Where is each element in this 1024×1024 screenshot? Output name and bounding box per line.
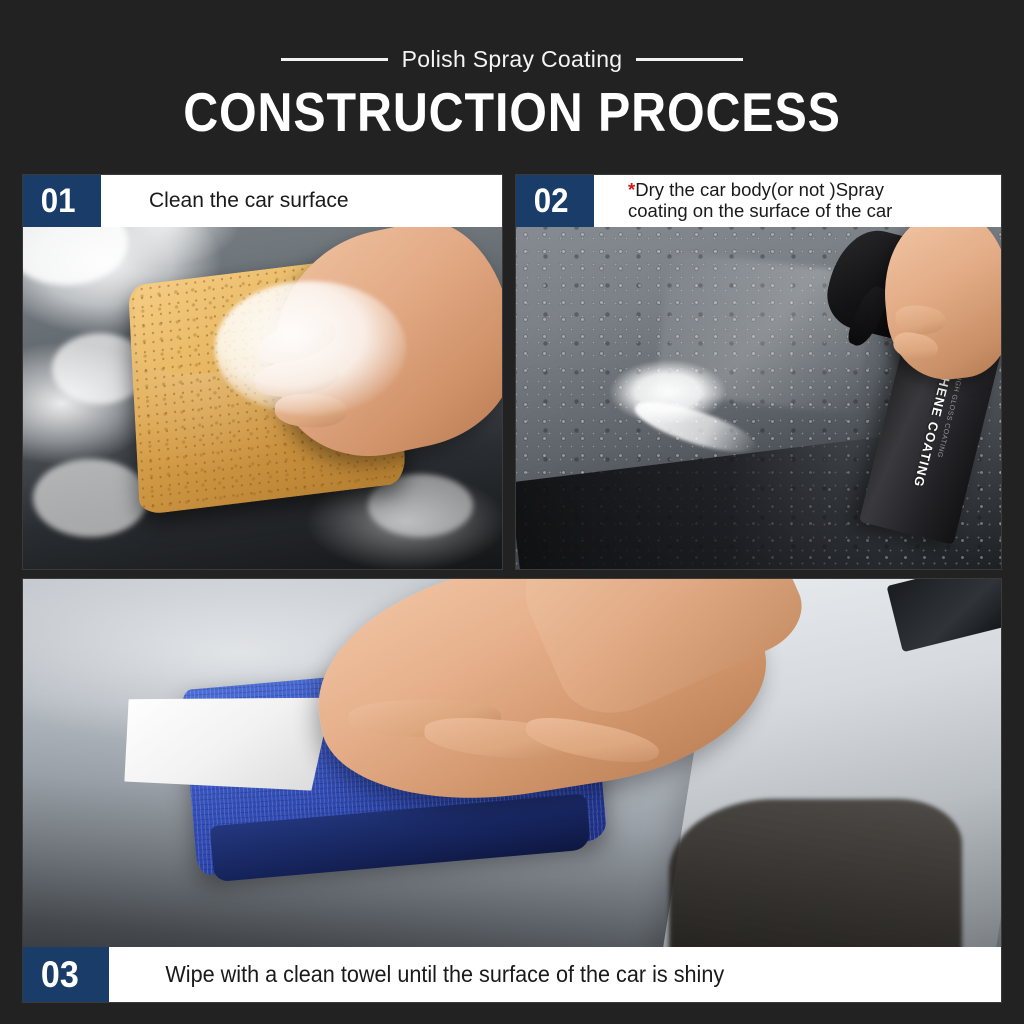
rule-right-decoration [636, 58, 743, 61]
step-badge-1: 01 [23, 175, 101, 227]
step-banner-3: 03 Wipe with a clean towel until the sur… [23, 947, 1001, 1002]
header: Polish Spray Coating CONSTRUCTION PROCES… [0, 0, 1024, 160]
photo-wipe-towel [23, 579, 1001, 1002]
step-badge-3: 03 [23, 947, 109, 1002]
step-banner-1: 01 Clean the car surface [23, 175, 502, 227]
step-banner-text-wrap-2: *Dry the car body(or not )Spray coating … [594, 175, 1001, 227]
step-number-1: 01 [41, 184, 81, 218]
subtitle-text: Polish Spray Coating [402, 46, 623, 73]
infographic-root: Polish Spray Coating CONSTRUCTION PROCES… [0, 0, 1024, 1024]
soap-foam [215, 281, 407, 415]
step-banner-text-wrap-1: Clean the car surface [101, 175, 502, 227]
rule-left-decoration [281, 58, 388, 61]
step-panel-1: 01 Clean the car surface [22, 174, 503, 570]
step-text-3: Wipe with a clean towel until the surfac… [109, 962, 724, 988]
step-panel-3: 03 Wipe with a clean towel until the sur… [22, 578, 1002, 1003]
step-number-2: 02 [534, 184, 574, 218]
step-banner-text-wrap-3: Wipe with a clean towel until the surfac… [109, 947, 1001, 1002]
step-text-2-body: Dry the car body(or not )Spray coating o… [628, 179, 892, 221]
page-title: CONSTRUCTION PROCESS [61, 80, 962, 144]
step-text-2: *Dry the car body(or not )Spray coating … [594, 180, 892, 221]
subtitle-row: Polish Spray Coating [0, 45, 1024, 73]
step-badge-2: 02 [516, 175, 594, 227]
photo-clean-car-surface [23, 175, 502, 569]
step-panel-2: fantastic WILL GRAPHENE COATING HIGH GLO… [515, 174, 1002, 570]
step-number-3: 03 [41, 956, 84, 993]
step-text-1: Clean the car surface [101, 189, 349, 213]
step-banner-2: 02 *Dry the car body(or not )Spray coati… [516, 175, 1001, 227]
photo-spray-coating: fantastic WILL GRAPHENE COATING HIGH GLO… [516, 175, 1001, 569]
